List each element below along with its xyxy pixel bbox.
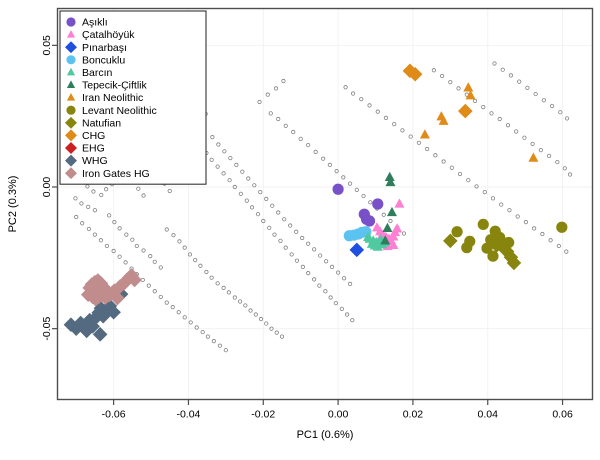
legend-item-label: Iron Gates HG [82,168,150,180]
background-point [318,284,321,287]
background-point [318,254,321,257]
background-point [256,213,259,216]
x-axis-title: PC1 (0.6%) [297,429,354,441]
background-point [547,154,550,157]
x-tick-label: 0.04 [478,409,499,421]
background-point [265,322,268,325]
background-point [393,122,396,125]
background-point [516,215,519,218]
background-point [501,68,504,71]
background-point [239,192,242,195]
background-point [279,239,282,242]
legend-item-whg[interactable]: WHG [65,155,108,168]
background-point [282,79,285,82]
background-point [268,226,271,229]
background-point [442,160,445,163]
background-point [258,100,261,103]
background-point [498,117,501,120]
background-point [475,185,478,188]
background-point [348,282,351,285]
legend-item-label: EHG [82,143,105,155]
legend-item-label: CHG [82,130,105,142]
background-point [249,309,252,312]
background-point [124,261,127,264]
background-point [135,244,138,247]
x-tick-label: -0.04 [176,409,200,421]
legend-item-label: Iran Neolithic [82,92,143,104]
background-point [550,104,553,107]
background-point [93,209,96,212]
background-point [376,110,379,113]
background-point [165,228,168,231]
background-point [402,232,405,235]
background-point [178,240,181,243]
background-point [218,344,221,347]
data-point [372,198,383,209]
background-point [222,286,225,289]
data-point [556,222,567,233]
legend-item-label: Pınarbaşı [82,42,127,54]
background-point [205,270,208,273]
background-point [93,233,96,236]
background-point [409,135,412,138]
background-point [159,266,162,269]
background-point [362,194,365,197]
y-tick-label: 0.05 [41,35,53,56]
data-point [332,184,343,195]
background-point [183,316,186,319]
background-point [440,74,443,77]
background-point [568,173,571,176]
data-point [382,223,392,232]
background-point [324,260,327,263]
background-point [491,197,494,200]
background-point [549,239,552,242]
background-point [277,211,280,214]
background-point [539,148,542,151]
legend-item-label: Natufian [82,117,121,129]
background-point [314,150,317,153]
background-point [274,87,277,90]
background-point [259,190,262,193]
background-point [217,143,220,146]
background-point [199,264,202,267]
background-point [542,99,545,102]
background-point [457,87,460,90]
background-point [294,230,297,233]
background-point [360,97,363,100]
background-point [483,190,486,193]
data-point [420,129,430,138]
background-point [104,188,107,191]
legend-item-chg[interactable]: CHG [65,129,105,142]
background-point [142,194,145,197]
pca-plot-canvas: -0.06-0.04-0.020.000.020.040.06 0.050.00… [0,0,600,460]
data-point [394,198,404,207]
background-point [524,220,527,223]
legend-marker-icon [66,106,75,115]
background-point [312,248,315,251]
background-point [80,222,83,225]
background-point [189,321,192,324]
background-point [224,349,227,352]
background-point [493,62,496,65]
background-point [280,335,283,338]
background-point [275,331,278,334]
background-point [254,313,257,316]
background-point [306,242,309,245]
background-point [541,232,544,235]
legend-item-label: Çatalhöyük [82,29,135,41]
background-point [216,282,219,285]
background-point [75,215,78,218]
background-point [559,111,562,114]
legend-marker-icon [66,17,75,26]
background-point [105,244,108,247]
background-point [171,305,174,308]
background-point [348,182,351,185]
background-point [259,317,262,320]
series-a-kl [332,184,383,227]
background-point [334,301,337,304]
background-point [201,330,204,333]
background-point [526,86,529,89]
y-axis-ticks: 0.050.00-0.05 [41,35,57,341]
background-point [277,117,280,120]
series-p-narba [350,243,365,258]
background-point [244,304,247,307]
background-point [329,296,332,299]
background-point [283,218,286,221]
background-point [137,187,140,190]
legend-marker-icon [66,55,75,64]
legend-item-label: Boncuklu [82,54,125,66]
background-point [531,142,534,145]
background-point [291,130,294,133]
background-point [210,158,213,161]
background-point [211,135,214,138]
background-point [425,147,428,150]
background-point [458,172,461,175]
background-point [342,176,345,179]
background-point [473,99,476,102]
background-point [193,258,196,261]
x-tick-label: -0.02 [251,409,275,421]
background-point [227,291,230,294]
background-point [532,227,535,230]
pca-scatter-figure: -0.06-0.04-0.020.000.020.040.06 0.050.00… [0,0,600,460]
background-point [565,117,568,120]
background-point [238,300,241,303]
y-axis-title: PC2 (0.3%) [7,176,19,233]
background-point [369,201,372,204]
background-point [321,157,324,160]
background-point [131,238,134,241]
background-point [534,92,537,95]
background-point [147,284,150,287]
background-point [517,80,520,83]
background-point [269,112,272,115]
background-point [223,150,226,153]
data-point [350,243,365,258]
background-point [271,204,274,207]
background-point [253,184,256,187]
background-point [118,227,121,230]
background-point [235,163,238,166]
background-point [312,278,315,281]
background-point [228,179,231,182]
legend-item-ehg[interactable]: EHG [65,142,105,155]
data-point [478,219,489,230]
background-point [153,260,156,263]
background-point [233,296,236,299]
background-point [565,250,568,253]
background-point [344,86,347,89]
x-tick-label: -0.06 [102,409,126,421]
legend: AşıklıÇatalhöyükPınarbaşıBoncukluBarcınT… [60,11,206,184]
background-point [306,271,309,274]
background-point [557,244,560,247]
background-point [306,143,309,146]
background-point [284,246,287,249]
background-point [172,233,175,236]
legend-item-label: Aşıklı [82,17,108,29]
background-point [206,335,209,338]
background-point [216,165,219,168]
x-axis-ticks: -0.06-0.04-0.020.000.020.040.06 [102,400,573,421]
background-point [125,233,128,236]
background-point [482,105,485,108]
x-tick-label: 0.02 [403,409,424,421]
legend-item-label: Barcın [82,67,113,79]
background-point [514,130,517,133]
background-point [368,104,371,107]
background-point [563,167,566,170]
background-point [165,301,168,304]
background-point [449,80,452,83]
background-point [107,214,110,217]
background-point [86,205,89,208]
background-point [351,318,354,321]
background-point [506,124,509,127]
background-point [328,163,331,166]
background-point [299,137,302,140]
y-tick-label: -0.05 [41,317,53,341]
background-point [99,239,102,242]
background-point [342,277,345,280]
legend-item-label: WHG [82,155,108,167]
background-point [432,69,435,72]
background-point [351,92,354,95]
x-tick-label: 0.06 [552,409,573,421]
background-point [290,253,293,256]
data-point [461,242,472,253]
background-point [382,213,385,216]
background-point [355,188,358,191]
data-point [463,82,473,91]
x-tick-label: 0.00 [328,409,349,421]
background-point [87,227,90,230]
background-point [92,190,95,193]
background-point [100,193,103,196]
background-point [229,156,232,159]
background-point [509,74,512,77]
background-point [324,290,327,293]
background-point [295,259,298,262]
background-point [500,203,503,206]
data-point [528,152,538,161]
legend-item-label: Tepecik-Çiftlik [82,80,148,92]
background-point [273,233,276,236]
background-point [490,112,493,115]
background-point [118,255,121,258]
background-point [523,136,526,139]
background-point [250,206,253,209]
background-point [340,307,343,310]
background-point [86,185,89,188]
background-point [149,254,152,257]
background-point [183,246,186,249]
background-point [389,219,392,222]
background-point [330,265,333,268]
data-point [364,215,375,226]
data-point [458,104,473,119]
legend-item-label: Levant Neolithic [82,105,157,117]
background-point [345,313,348,316]
series-iran-neolithic [420,82,538,162]
background-point [301,265,304,268]
background-point [450,166,453,169]
background-point [74,197,77,200]
background-point [212,339,215,342]
background-point [153,290,156,293]
background-point [401,129,404,132]
background-point [245,199,248,202]
background-point [210,276,213,279]
background-point [241,170,244,173]
background-point [177,311,180,314]
background-point [508,209,511,212]
background-point [142,249,145,252]
y-tick-label: 0.00 [41,177,53,198]
background-point [80,202,83,205]
background-point [284,124,287,127]
background-point [247,177,250,180]
data-point [387,207,397,216]
background-point [266,93,269,96]
background-point [159,295,162,298]
background-point [467,179,470,182]
data-point [451,226,462,237]
background-point [417,141,420,144]
data-point [466,90,476,99]
background-point [384,116,387,119]
background-point [556,160,559,163]
background-point [434,154,437,157]
background-point [168,189,171,192]
background-point [300,236,303,239]
data-point [392,223,402,232]
background-point [222,172,225,175]
background-point [265,197,268,200]
background-point [289,224,292,227]
